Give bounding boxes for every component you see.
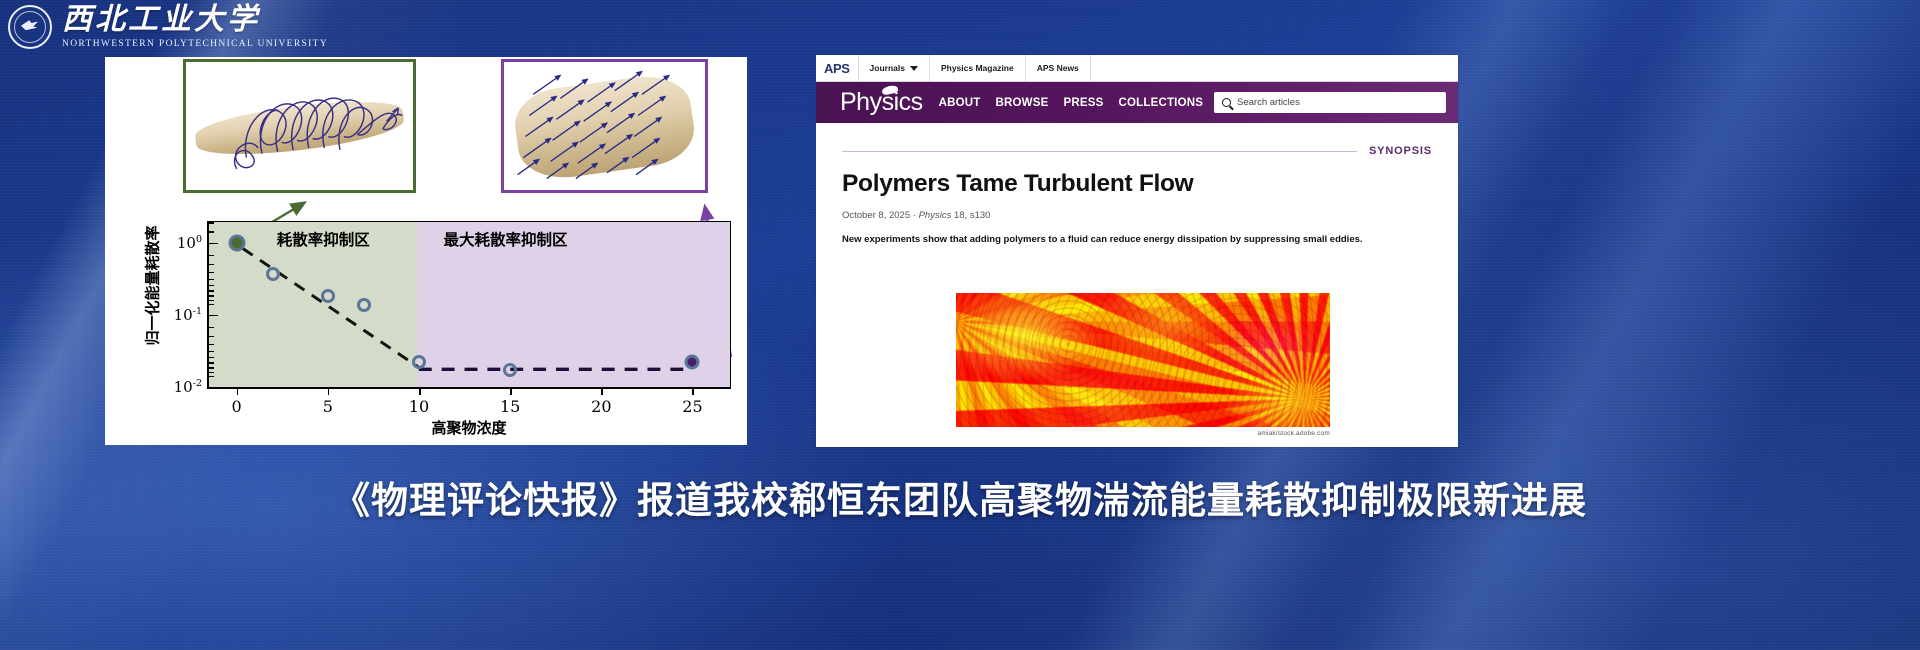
article-meta: October 8, 2025 · Physics 18, s130 — [842, 210, 1432, 221]
article-kicker-row: SYNOPSIS — [842, 145, 1432, 157]
zone-label-suppression: 耗散率抑制区 — [277, 228, 370, 250]
data-point — [321, 289, 335, 303]
bird-glyph-icon — [19, 16, 41, 38]
aps-article-body: SYNOPSIS Polymers Tame Turbulent Flow Oc… — [816, 123, 1458, 248]
chart-xtick-5: 5 — [323, 397, 333, 416]
aps-top-navbar: APS Journals Physics Magazine APS News — [816, 55, 1458, 82]
nav-item-collections[interactable]: COLLECTIONS — [1118, 97, 1203, 109]
article-title[interactable]: Polymers Tame Turbulent Flow — [842, 170, 1432, 198]
search-icon — [1222, 98, 1231, 107]
aps-logo-icon[interactable]: APS — [816, 55, 859, 81]
article-date: October 8, 2025 — [842, 210, 910, 221]
chart-ytick-1e-1: 10-1 — [174, 306, 202, 324]
chart-xtick-25: 25 — [682, 397, 702, 416]
dissipation-chart: 归一化能量耗散率 耗散率抑制区 最大耗散率抑制区 100 10-1 10-2 — [145, 215, 737, 440]
citation-rest: 18, s130 — [954, 210, 990, 221]
chart-xtick-15: 15 — [500, 397, 520, 416]
tube-geometry-flat — [511, 71, 699, 184]
nav-item-journals[interactable]: Journals — [859, 55, 930, 81]
university-seal-icon — [8, 5, 52, 49]
data-point — [357, 298, 371, 312]
article-hero-image — [956, 293, 1330, 427]
chart-ytick-1e-2: 10-2 — [174, 378, 202, 396]
data-point — [685, 355, 700, 370]
nav-journals-label: Journals — [870, 63, 905, 73]
university-name-cn: 西北工业大学 — [62, 5, 328, 35]
university-logo: 西北工业大学 NORTHWESTERN POLYTECHNICAL UNIVER… — [8, 5, 328, 50]
page-title: 《物理评论快报》报道我校郗恒东团队高聚物湍流能量耗散抑制极限新进展 — [0, 462, 1920, 532]
data-point — [412, 355, 426, 369]
chart-plot-area: 耗散率抑制区 最大耗散率抑制区 100 10-1 10-2 — [207, 221, 731, 389]
university-name-block: 西北工业大学 NORTHWESTERN POLYTECHNICAL UNIVER… — [62, 5, 328, 50]
article-deck: New experiments show that adding polymer… — [842, 233, 1407, 248]
search-input[interactable]: Search articles — [1214, 92, 1446, 113]
university-name-en: NORTHWESTERN POLYTECHNICAL UNIVERSITY — [62, 40, 328, 50]
search-placeholder: Search articles — [1237, 97, 1300, 108]
kicker-rule — [842, 151, 1357, 152]
aps-main-nav: ABOUT BROWSE PRESS COLLECTIONS — [939, 97, 1203, 109]
data-point — [503, 363, 517, 377]
data-point — [228, 234, 245, 251]
chart-x-axis-label: 高聚物浓度 — [207, 417, 731, 438]
tube-geometry — [193, 93, 406, 162]
research-figure-card: 归一化能量耗散率 耗散率抑制区 最大耗散率抑制区 100 10-1 10-2 — [105, 57, 747, 445]
chevron-down-icon — [910, 66, 918, 71]
nav-spacer — [1091, 55, 1458, 81]
image-credit: amiak/stock.adobe.com — [956, 430, 1330, 437]
nav-item-aps-news[interactable]: APS News — [1026, 55, 1091, 81]
inset-coiled-vortex — [183, 59, 416, 193]
chart-xtick-0: 0 — [232, 397, 242, 416]
chart-xtick-10: 10 — [409, 397, 429, 416]
nav-item-press[interactable]: PRESS — [1063, 97, 1103, 109]
aps-brand-header: Physics ABOUT BROWSE PRESS COLLECTIONS S… — [816, 82, 1458, 123]
citation-journal: Physics — [919, 210, 952, 221]
inset-aligned-vectors — [501, 59, 708, 193]
nav-item-browse[interactable]: BROWSE — [996, 97, 1049, 109]
nav-item-about[interactable]: ABOUT — [939, 97, 981, 109]
aps-website-screenshot: APS Journals Physics Magazine APS News P… — [816, 55, 1458, 447]
status-badge: SYNOPSIS — [1369, 145, 1432, 157]
zone-label-max-suppression: 最大耗散率抑制区 — [443, 228, 567, 250]
chart-y-axis-label: 归一化能量耗散率 — [142, 223, 163, 349]
chart-xtick-20: 20 — [591, 397, 611, 416]
data-point — [266, 267, 280, 281]
chart-ytick-1e0: 100 — [177, 234, 202, 252]
physics-brand-logo[interactable]: Physics — [840, 90, 923, 115]
nav-item-physics-magazine[interactable]: Physics Magazine — [930, 55, 1026, 81]
